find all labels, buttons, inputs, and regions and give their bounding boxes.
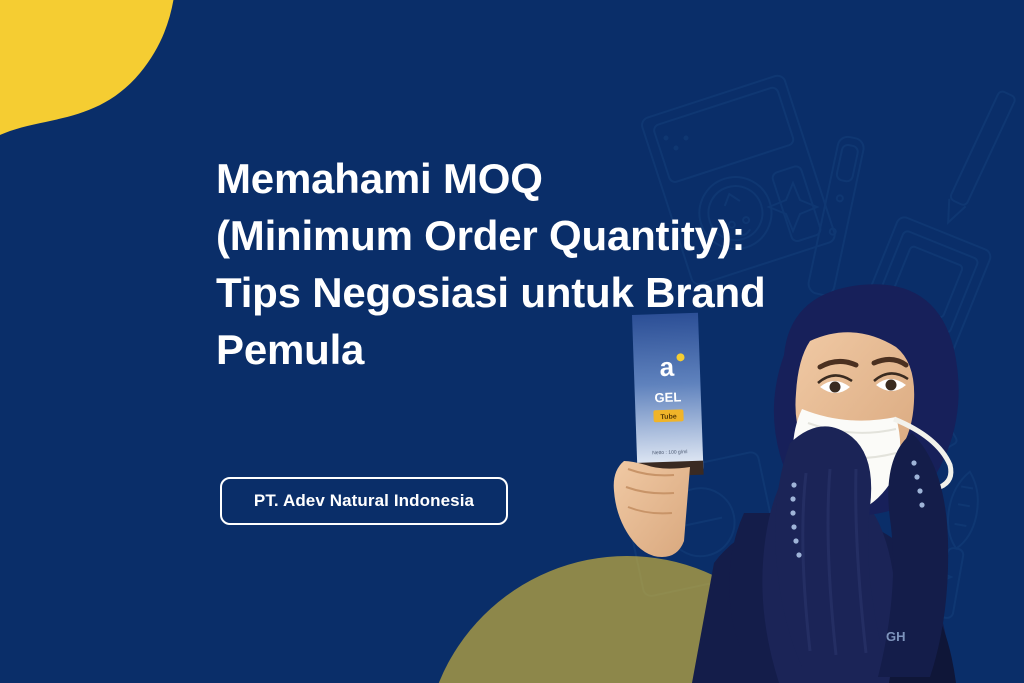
company-badge[interactable]: PT. Adev Natural Indonesia <box>220 477 508 525</box>
company-badge-label: PT. Adev Natural Indonesia <box>254 491 474 511</box>
page-title: Memahami MOQ (Minimum Order Quantity): T… <box>216 150 836 378</box>
yellow-decorative-blob <box>0 0 200 170</box>
svg-text:Tube: Tube <box>660 414 677 422</box>
promotional-banner: a GEL Tube Netto : 100 g/ml <box>0 0 1024 683</box>
svg-text:GH: GH <box>886 629 906 644</box>
svg-text:Netto : 100 g/ml: Netto : 100 g/ml <box>652 449 687 456</box>
headline-block: Memahami MOQ (Minimum Order Quantity): T… <box>216 150 836 378</box>
svg-text:GEL: GEL <box>654 389 681 405</box>
